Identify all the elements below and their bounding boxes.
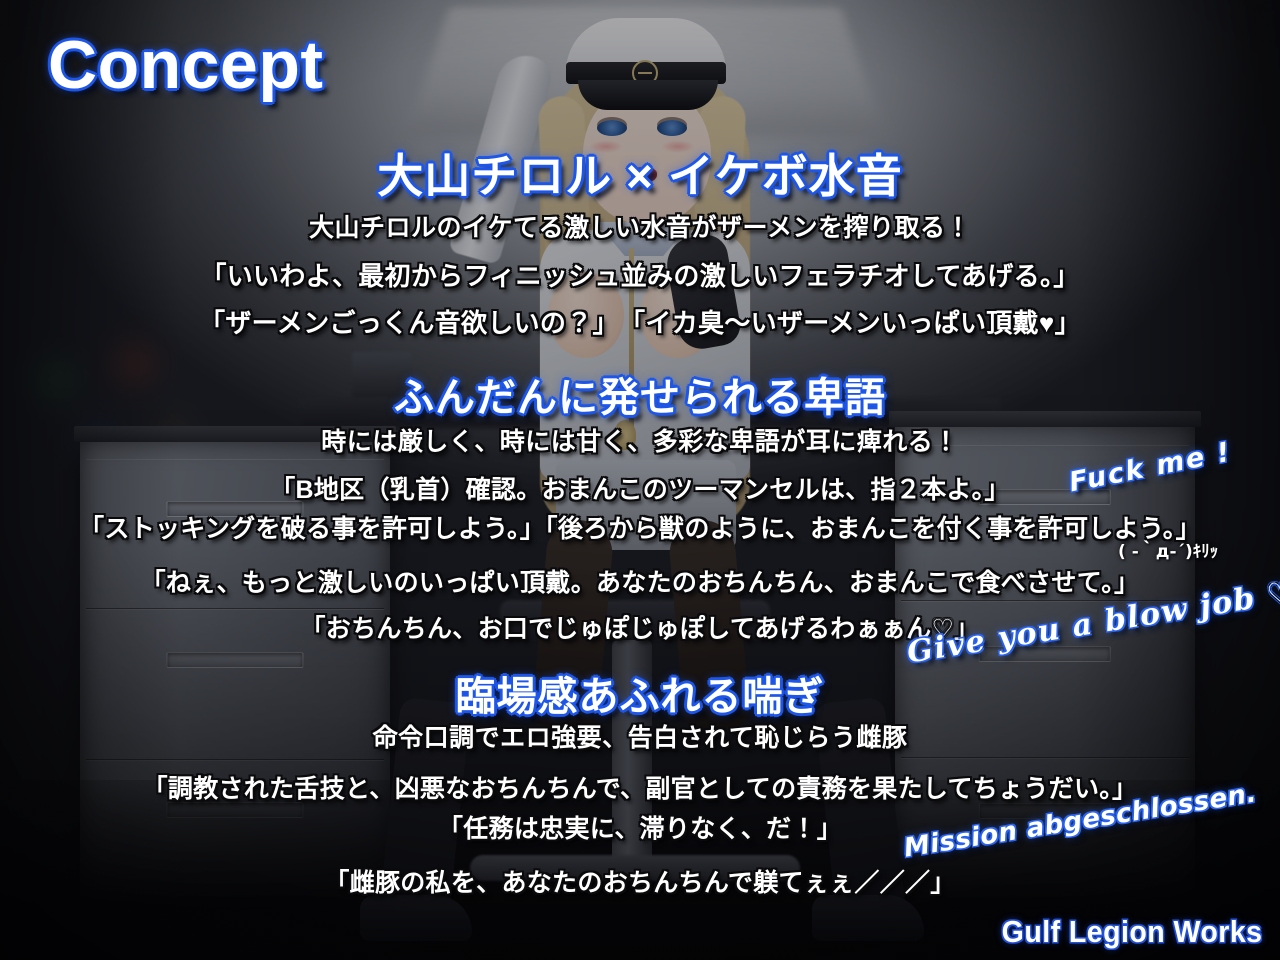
text-layer: Concept 大山チロル × イケボ水音 大山チロルのイケてる激しい水音がザー… [0, 0, 1280, 960]
section-heading: 臨場感あふれる喘ぎ [0, 664, 1280, 722]
hero-headline: 大山チロル × イケボ水音 [0, 140, 1280, 206]
section-subheading: 時には厳しく、時には甘く、多彩な卑語が耳に痺れる！ [0, 422, 1280, 458]
section-quote: 「ストッキングを破る事を許可しよう。」「後ろから獣のように、おまんこを付く事を許… [0, 509, 1280, 545]
page-title: Concept [48, 26, 324, 104]
section-quote: 「ねぇ、もっと激しいのいっぱい頂戴。あなたのおちんちん、おまんこで食べさせて。」 [0, 563, 1280, 599]
section-heading: ふんだんに発せられる卑語 [0, 365, 1280, 423]
concept-slide: Concept 大山チロル × イケボ水音 大山チロルのイケてる激しい水音がザー… [0, 0, 1280, 960]
section-subheading: 命令口調でエロ強要、告白されて恥じらう雌豚 [0, 718, 1280, 754]
brand-logo: Gulf Legion Works [1001, 914, 1262, 950]
section-quote: 「調教された舌技と、凶悪なおちんちんで、副官としての責務を果たしてちょうだい。」 [0, 769, 1280, 805]
hero-quote: 「ザーメンごっくん音欲しいの？」 「イカ臭〜いザーメンいっぱい頂戴♥」 [0, 303, 1280, 340]
hero-quote: 「いいわよ、最初からフィニッシュ並みの激しいフェラチオしてあげる。」 [0, 256, 1280, 293]
hero-subline: 大山チロルのイケてる激しい水音がザーメンを搾り取る！ [0, 208, 1280, 244]
kaomoji-emoticon: ( -｀д-´)ｷﾘｯ [1118, 537, 1218, 562]
section-quote: 「雌豚の私を、あなたのおちんちんで躾てぇぇ／／／」 [0, 863, 1280, 899]
